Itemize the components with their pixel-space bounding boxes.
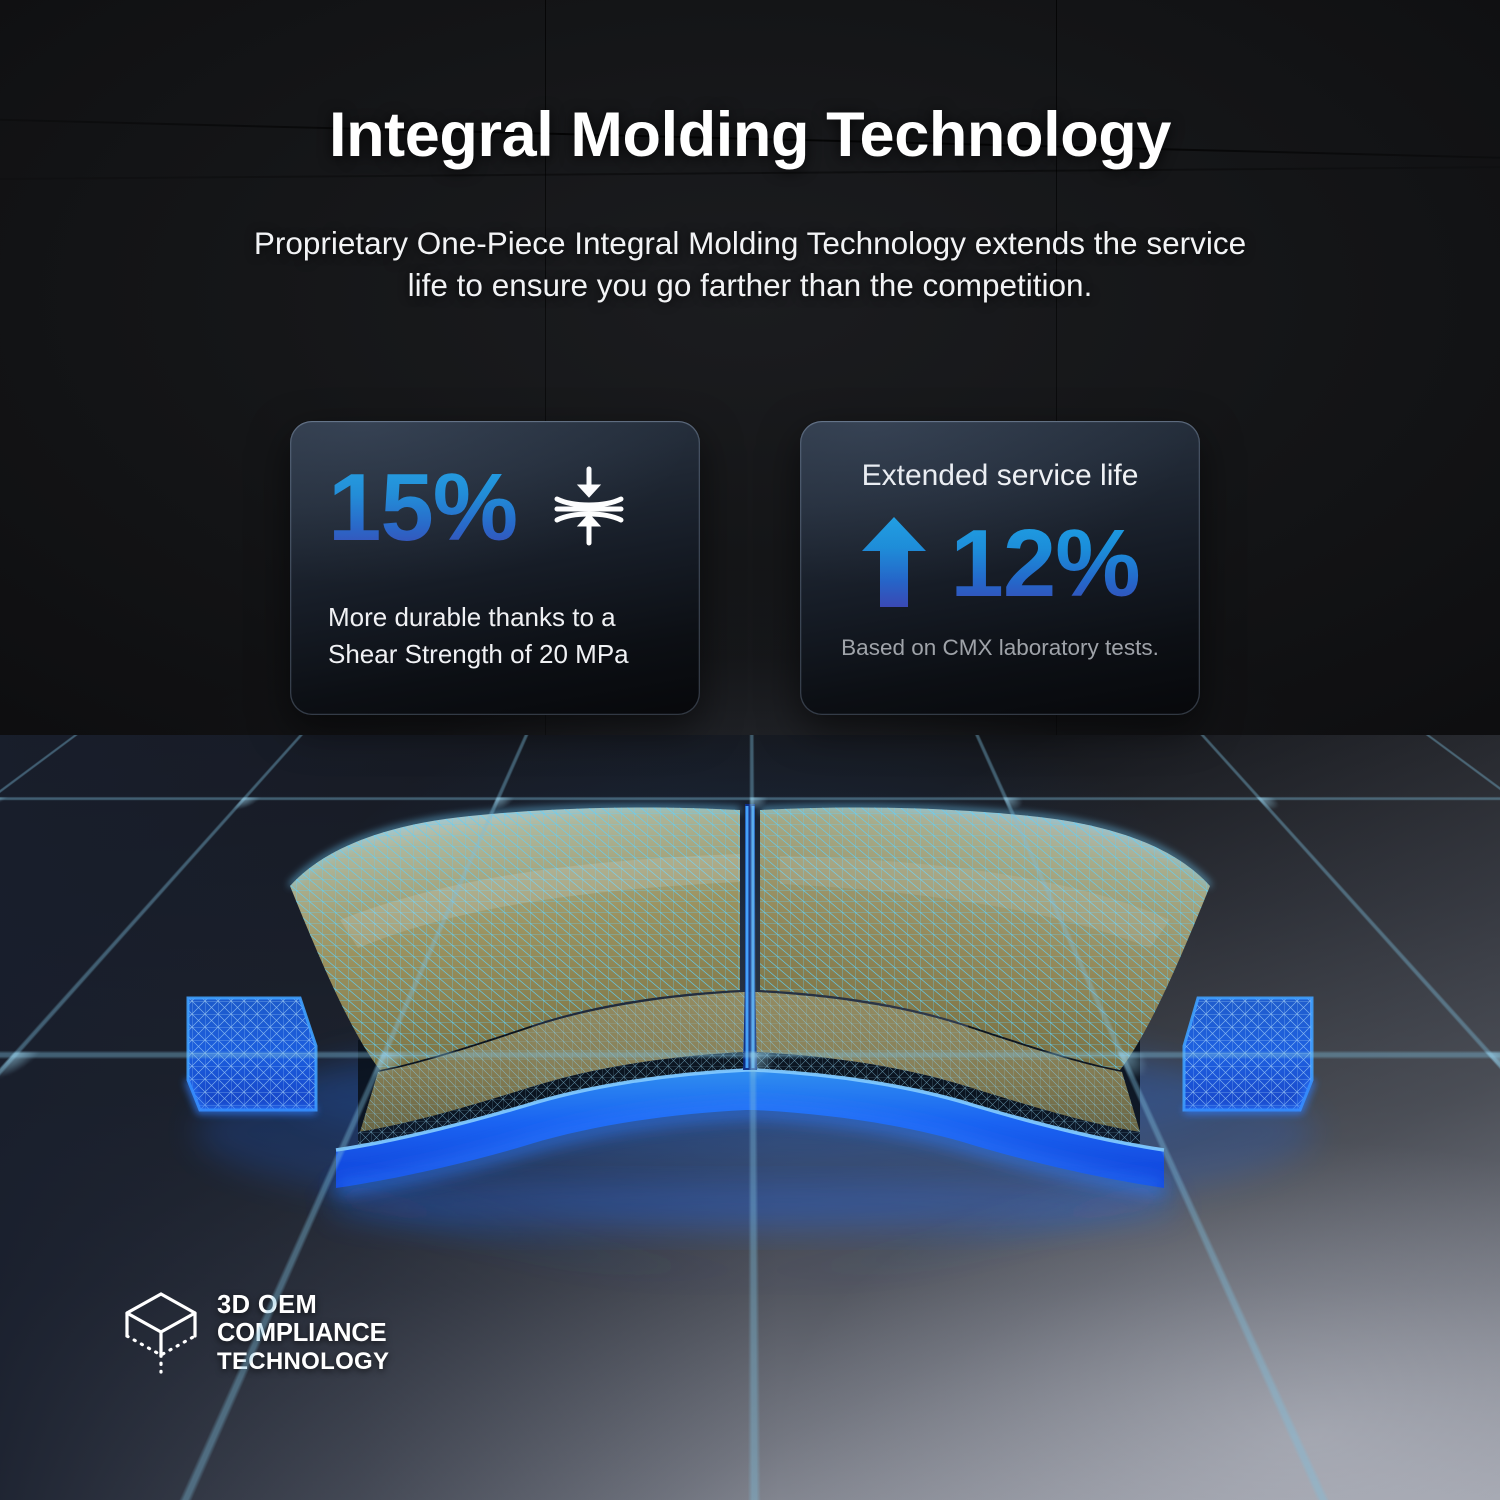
- page-title: Integral Molding Technology: [0, 103, 1500, 169]
- service-life-title: Extended service life: [800, 459, 1200, 493]
- arrow-up-icon: [860, 513, 928, 616]
- pad-ear-left: [180, 990, 330, 1120]
- service-life-stat-row: 12%: [800, 513, 1200, 616]
- promo-graphic: Integral Molding Technology Proprietary …: [0, 0, 1500, 1500]
- brand-line-1: 3D OEM: [217, 1293, 389, 1319]
- durability-stat-value: 15%: [328, 464, 517, 552]
- pad-center-slot: [743, 804, 757, 1110]
- brand-line-2: COMPLIANCE: [217, 1321, 389, 1347]
- pad-ear-right: [1176, 990, 1326, 1120]
- durability-description: More durable thanks to a Shear Strength …: [328, 599, 668, 673]
- brake-pad-render: [140, 780, 1370, 1210]
- wireframe-cube-icon: [122, 1290, 200, 1376]
- brand-badge[interactable]: 3D OEM COMPLIANCE TECHNOLOGY: [122, 1290, 389, 1376]
- brand-wordmark: 3D OEM COMPLIANCE TECHNOLOGY: [217, 1293, 389, 1374]
- brand-line-3: TECHNOLOGY: [217, 1350, 389, 1374]
- service-life-stat-value: 12%: [950, 520, 1139, 608]
- compression-icon: [549, 463, 629, 554]
- page-subtitle: Proprietary One-Piece Integral Molding T…: [250, 222, 1250, 306]
- stat-card-service-life[interactable]: Extended service life 12% Bas: [800, 421, 1200, 715]
- service-life-note: Based on CMX laboratory tests.: [800, 635, 1200, 661]
- durability-stat-row: 15%: [328, 463, 629, 554]
- stat-card-durability[interactable]: 15% More durable thanks to a Shear Stren…: [290, 421, 700, 715]
